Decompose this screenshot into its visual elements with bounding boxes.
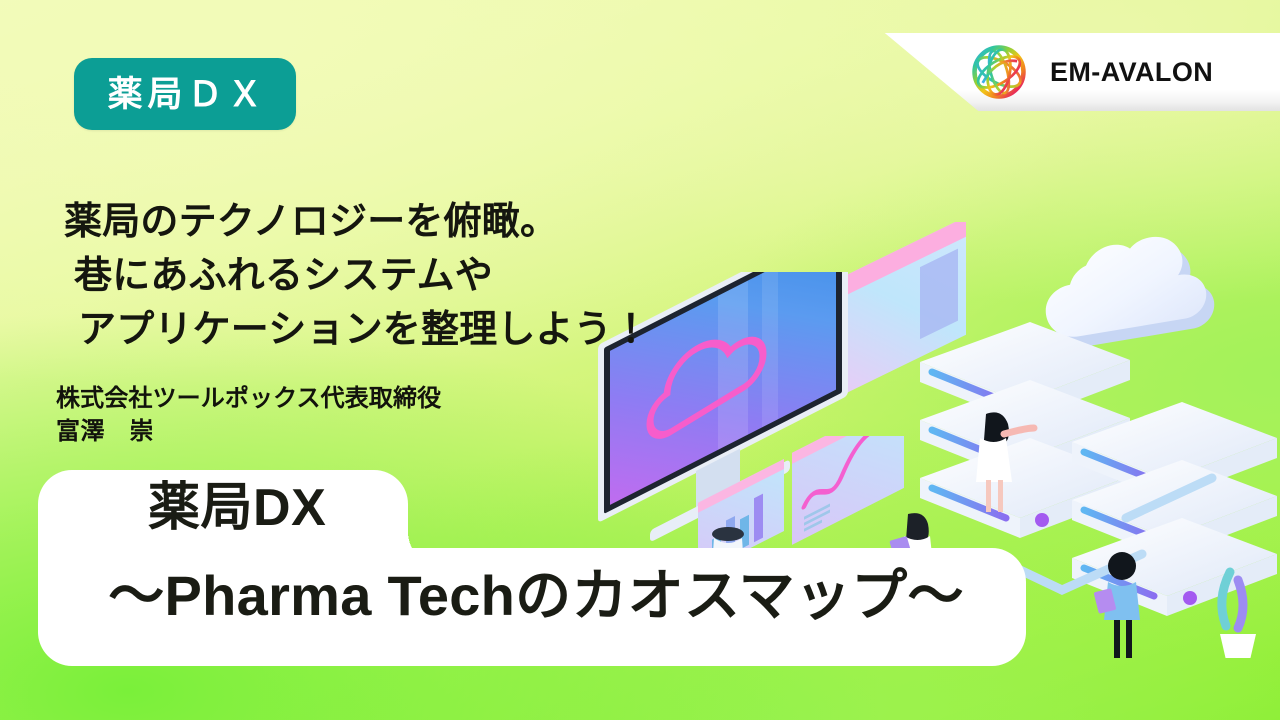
lede-line-3: アプリケーションを整理しよう！ bbox=[64, 304, 724, 358]
lede-line-2: 巷にあふれるシステムや bbox=[64, 250, 724, 304]
rainbow-globe-icon bbox=[970, 43, 1028, 101]
title-line-1: 薬局DX bbox=[148, 482, 326, 534]
title-plate: 薬局DX ～Pharma Techのカオスマップ～ bbox=[38, 470, 1026, 666]
topic-badge: 薬局ＤＸ bbox=[74, 58, 296, 130]
lede-paragraph: 薬局のテクノロジーを俯瞰。 巷にあふれるシステムや アプリケーションを整理しよう… bbox=[64, 196, 724, 358]
brand-banner: EM-AVALON bbox=[855, 33, 1280, 111]
title-line-2: ～Pharma Techのカオスマップ～ bbox=[86, 568, 986, 624]
lede-line-1: 薬局のテクノロジーを俯瞰。 bbox=[64, 196, 724, 250]
topic-badge-label: 薬局ＤＸ bbox=[103, 77, 268, 112]
byline: 株式会社ツールポックス代表取締役 富澤 崇 bbox=[56, 382, 441, 448]
brand-name: EM-AVALON bbox=[1050, 57, 1213, 88]
byline-name: 富澤 崇 bbox=[56, 415, 441, 448]
byline-affiliation: 株式会社ツールポックス代表取締役 bbox=[56, 382, 441, 415]
slide-canvas: 薬局ＤＸ bbox=[0, 0, 1280, 720]
